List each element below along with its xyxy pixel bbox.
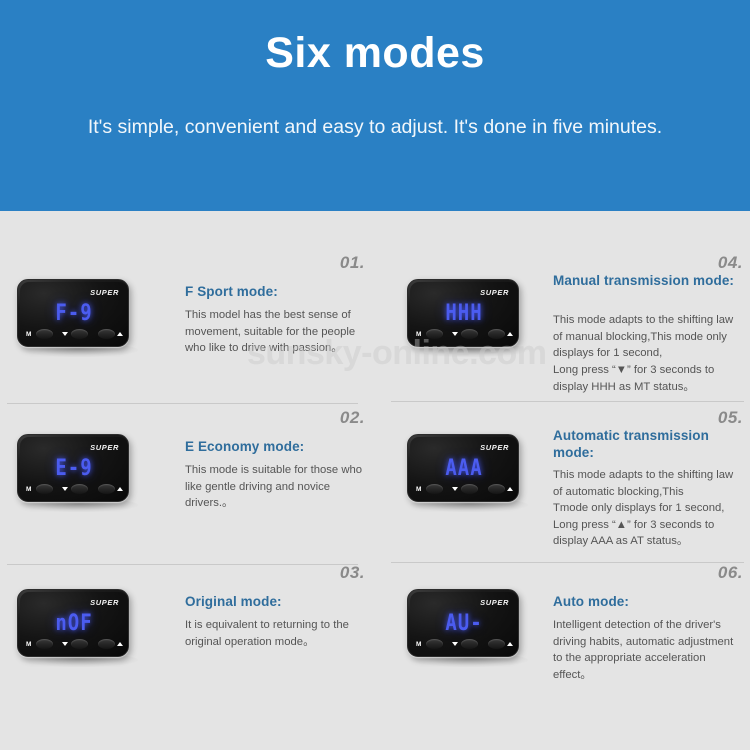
device-body: SUPER AU- M [407, 589, 519, 657]
triangle-down-icon [62, 487, 68, 491]
product-feature-page: Six modes It's simple, convenient and ea… [0, 0, 750, 750]
mode-button[interactable] [426, 639, 443, 649]
mode-title: F Sport mode: [185, 283, 365, 300]
device-brand-label: SUPER [90, 443, 119, 452]
triangle-down-icon [452, 332, 458, 336]
mode-button[interactable] [36, 484, 53, 494]
mode-description-secondary: Long press “▼” for 3 seconds to display … [553, 362, 743, 395]
mode-description: Intelligent detection of the driver's dr… [553, 617, 743, 683]
mode-number: 05. [718, 408, 743, 428]
mode-card-06: SUPER AU- M 06. Auto mode: Intelligent d… [375, 563, 750, 725]
down-button[interactable] [461, 329, 478, 339]
page-subtitle: It's simple, convenient and easy to adju… [75, 113, 675, 142]
up-button[interactable] [488, 484, 505, 494]
device-brand-label: SUPER [480, 598, 509, 607]
up-button[interactable] [488, 329, 505, 339]
page-title: Six modes [0, 27, 750, 79]
mode-description-secondary: Tmode only displays for 1 second, Long p… [553, 500, 743, 550]
key-label-m: M [416, 330, 421, 339]
up-button[interactable] [488, 639, 505, 649]
device-body: SUPER AAA M [407, 434, 519, 502]
device-button-row: M [26, 638, 124, 652]
pedal-booster-device: SUPER E-9 M [17, 434, 142, 516]
mode-title: Auto mode: [553, 593, 743, 610]
down-button[interactable] [461, 484, 478, 494]
mode-number: 04. [718, 253, 743, 273]
triangle-up-icon [117, 487, 123, 491]
down-button[interactable] [461, 639, 478, 649]
mode-button[interactable] [426, 484, 443, 494]
triangle-down-icon [452, 487, 458, 491]
key-label-m: M [26, 330, 31, 339]
mode-title: Manual transmission mode: [553, 272, 743, 289]
device-display: AU- [408, 610, 519, 636]
triangle-up-icon [507, 642, 513, 646]
mode-button[interactable] [36, 639, 53, 649]
down-button[interactable] [71, 639, 88, 649]
down-button[interactable] [71, 484, 88, 494]
mode-card-03: SUPER nOF M 03. Original mode: It is equ… [0, 563, 375, 725]
mode-card-01: SUPER F-9 M 01. F Sport mode: This model… [0, 253, 375, 415]
device-body: SUPER nOF M [17, 589, 129, 657]
triangle-up-icon [507, 332, 513, 336]
mode-number: 06. [718, 563, 743, 583]
triangle-down-icon [452, 642, 458, 646]
triangle-down-icon [62, 642, 68, 646]
device-button-row: M [26, 328, 124, 342]
device-button-row: M [416, 328, 514, 342]
pedal-booster-device: SUPER AAA M [407, 434, 532, 516]
device-body: SUPER E-9 M [17, 434, 129, 502]
pedal-booster-device: SUPER nOF M [17, 589, 142, 671]
pedal-booster-device: SUPER AU- M [407, 589, 532, 671]
mode-description: This mode adapts to the shifting law of … [553, 312, 743, 362]
device-display: nOF [18, 610, 129, 636]
mode-description: It is equivalent to returning to the ori… [185, 617, 365, 650]
mode-card-02: SUPER E-9 M 02. E Economy mode: This mod… [0, 408, 375, 570]
mode-card-04: SUPER HHH M 04. Manual transmission mode… [375, 253, 750, 415]
up-button[interactable] [98, 329, 115, 339]
device-display: AAA [408, 455, 519, 481]
device-body: SUPER F-9 M [17, 279, 129, 347]
mode-description: This mode is suitable for those who like… [185, 462, 365, 512]
mode-number: 02. [340, 408, 365, 428]
key-label-m: M [26, 485, 31, 494]
device-button-row: M [416, 483, 514, 497]
mode-card-05: SUPER AAA M 05. Automatic transmission m… [375, 408, 750, 570]
key-label-m: M [416, 485, 421, 494]
mode-number: 03. [340, 563, 365, 583]
up-button[interactable] [98, 484, 115, 494]
mode-description: This model has the best sense of movemen… [185, 307, 365, 357]
device-brand-label: SUPER [90, 598, 119, 607]
triangle-up-icon [117, 642, 123, 646]
pedal-booster-device: SUPER F-9 M [17, 279, 142, 361]
device-brand-label: SUPER [480, 288, 509, 297]
triangle-up-icon [117, 332, 123, 336]
key-label-m: M [416, 640, 421, 649]
mode-title: Original mode: [185, 593, 365, 610]
device-brand-label: SUPER [90, 288, 119, 297]
device-button-row: M [26, 483, 124, 497]
mode-number: 01. [340, 253, 365, 273]
mode-title: Automatic transmission mode: [553, 427, 743, 461]
mode-description: This mode adapts to the shifting law of … [553, 467, 743, 500]
mode-button[interactable] [426, 329, 443, 339]
device-display: E-9 [18, 455, 129, 481]
page-header: Six modes It's simple, convenient and ea… [0, 0, 750, 211]
key-label-m: M [26, 640, 31, 649]
mode-button[interactable] [36, 329, 53, 339]
triangle-up-icon [507, 487, 513, 491]
mode-title: E Economy mode: [185, 438, 365, 455]
device-body: SUPER HHH M [407, 279, 519, 347]
device-brand-label: SUPER [480, 443, 509, 452]
device-button-row: M [416, 638, 514, 652]
triangle-down-icon [62, 332, 68, 336]
pedal-booster-device: SUPER HHH M [407, 279, 532, 361]
up-button[interactable] [98, 639, 115, 649]
device-display: F-9 [18, 300, 129, 326]
modes-grid: SUPER F-9 M 01. F Sport mode: This model… [0, 211, 750, 750]
down-button[interactable] [71, 329, 88, 339]
device-display: HHH [408, 300, 519, 326]
